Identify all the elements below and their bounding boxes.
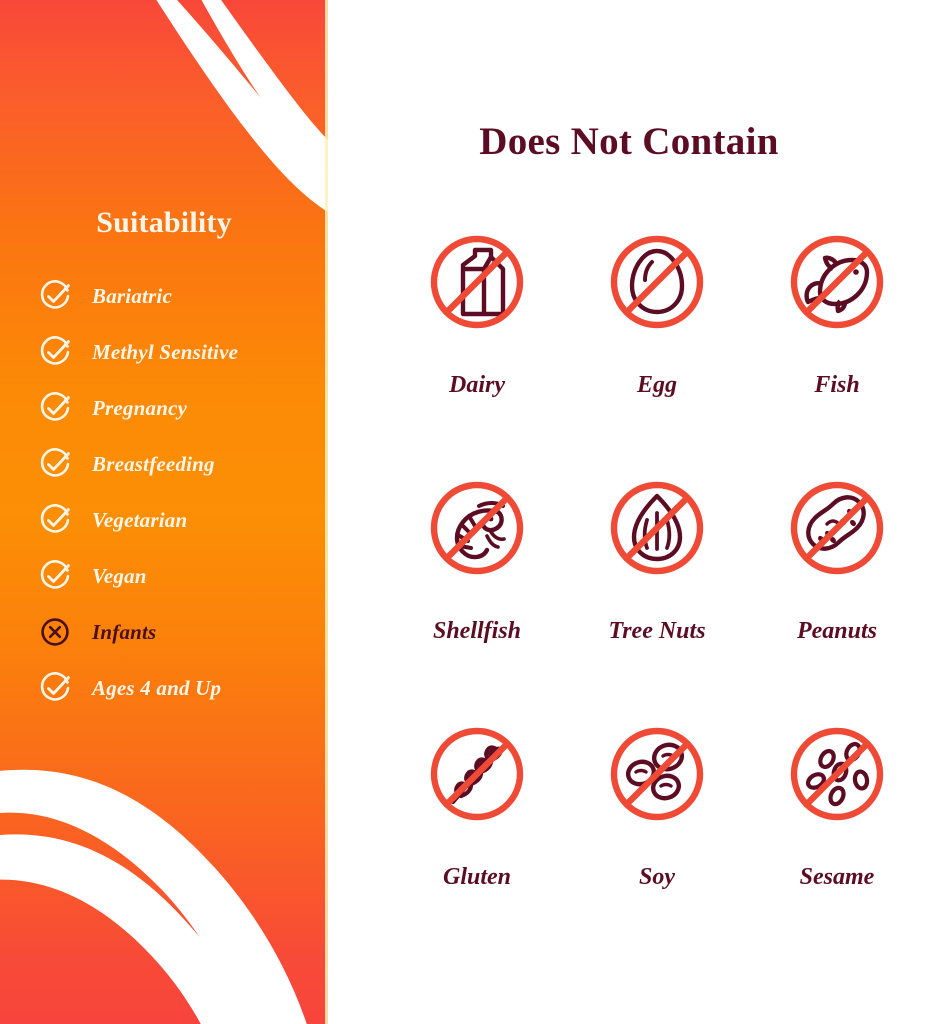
sesame-seeds-icon (773, 714, 901, 842)
check-circle-icon (38, 671, 72, 705)
allergen-cell-fish: Fish (747, 222, 927, 468)
prohibition-slash (447, 744, 508, 805)
suitability-item-infants: Infants (38, 604, 328, 660)
allergen-label: Peanuts (797, 618, 877, 645)
suitability-item-label: Ages 4 and Up (92, 676, 221, 701)
allergen-grid: Dairy Egg (387, 222, 927, 960)
allergen-cell-dairy: Dairy (387, 222, 567, 468)
allergen-label: Soy (639, 864, 675, 891)
suitability-item-label: Infants (92, 620, 156, 645)
suitability-item-methyl-sensitive: Methyl Sensitive (38, 324, 328, 380)
check-circle-icon (38, 391, 72, 425)
allergen-cell-egg: Egg (567, 222, 747, 468)
allergen-cell-sesame: Sesame (747, 714, 927, 960)
suitability-item-label: Breastfeeding (92, 452, 215, 477)
suitability-item-label: Vegetarian (92, 508, 187, 533)
allergen-label: Egg (637, 372, 677, 399)
allergen-label: Tree Nuts (608, 618, 705, 645)
check-circle-icon (38, 503, 72, 537)
almond-icon (593, 468, 721, 596)
soybean-icon (593, 714, 721, 842)
suitability-item-bariatric: Bariatric (38, 268, 328, 324)
egg-icon (593, 222, 721, 350)
suitability-item-vegetarian: Vegetarian (38, 492, 328, 548)
suitability-item-ages-4-and-up: Ages 4 and Up (38, 660, 328, 716)
allergen-label: Gluten (443, 864, 511, 891)
prohibition-slash (447, 252, 508, 313)
check-circle-icon (38, 447, 72, 481)
suitability-item-label: Bariatric (92, 284, 172, 309)
does-not-contain-title: Does Not Contain (331, 119, 927, 164)
allergen-label: Sesame (800, 864, 875, 891)
check-circle-icon (38, 559, 72, 593)
peanut-icon (773, 468, 901, 596)
x-circle-icon (38, 615, 72, 649)
suitability-item-breastfeeding: Breastfeeding (38, 436, 328, 492)
allergen-label: Shellfish (433, 618, 521, 645)
suitability-item-label: Vegan (92, 564, 147, 589)
allergen-cell-gluten: Gluten (387, 714, 567, 960)
allergen-label: Dairy (449, 372, 505, 399)
allergen-cell-soy: Soy (567, 714, 747, 960)
allergen-cell-shellfish: Shellfish (387, 468, 567, 714)
suitability-item-pregnancy: Pregnancy (38, 380, 328, 436)
suitability-panel: Suitability Bariatric Methyl Sensitive (0, 0, 328, 1024)
suitability-item-label: Pregnancy (92, 396, 187, 421)
fish-icon (773, 222, 901, 350)
peanut-glyph (808, 497, 863, 548)
does-not-contain-section: Does Not Contain Dairy (331, 0, 927, 1024)
suitability-list: Bariatric Methyl Sensitive Pregnancy (38, 268, 328, 716)
wheat-icon (413, 714, 541, 842)
suitability-item-vegan: Vegan (38, 548, 328, 604)
shrimp-icon (413, 468, 541, 596)
suitability-item-label: Methyl Sensitive (92, 340, 238, 365)
allergen-cell-peanuts: Peanuts (747, 468, 927, 714)
allergen-cell-tree-nuts: Tree Nuts (567, 468, 747, 714)
allergen-label: Fish (814, 372, 859, 399)
check-circle-icon (38, 335, 72, 369)
check-circle-icon (38, 279, 72, 313)
milk-carton-icon (413, 222, 541, 350)
suitability-title: Suitability (0, 206, 328, 240)
